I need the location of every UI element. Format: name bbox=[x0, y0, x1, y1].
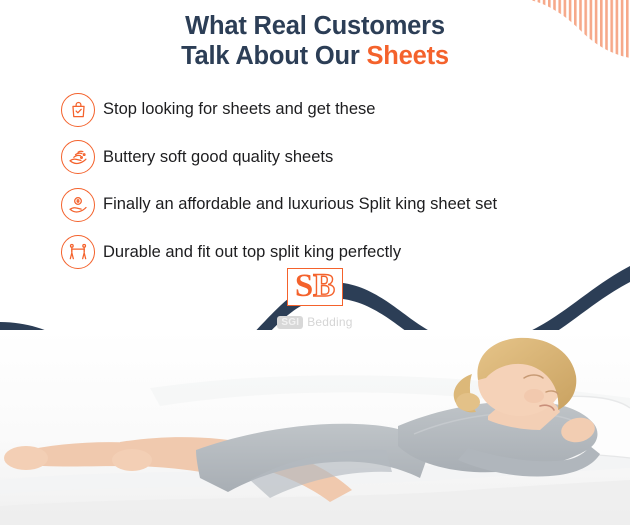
headline-line-2: Talk About Our Sheets bbox=[0, 42, 630, 72]
bedroom-photo bbox=[0, 330, 630, 525]
hand-soft-fabric-icon bbox=[61, 140, 95, 174]
shopping-bag-check-icon bbox=[61, 93, 95, 127]
logo-monogram: SB bbox=[287, 268, 343, 306]
logo-monogram-b: B bbox=[313, 268, 335, 304]
logo-wordmark-badge: SGI bbox=[277, 316, 303, 329]
promo-card: What Real Customers Talk About Our Sheet… bbox=[0, 0, 630, 525]
benefit-row: Stop looking for sheets and get these bbox=[61, 86, 621, 134]
brand-logo: SB SGI Bedding bbox=[0, 268, 630, 329]
benefits-list: Stop looking for sheets and get these Bu… bbox=[61, 86, 621, 276]
headline-line-2-prefix: Talk About Our bbox=[181, 42, 366, 70]
benefit-text: Finally an affordable and luxurious Spli… bbox=[103, 195, 497, 214]
benefit-text: Durable and fit out top split king perfe… bbox=[103, 243, 401, 262]
headline-block: What Real Customers Talk About Our Sheet… bbox=[0, 12, 630, 71]
logo-wordmark-text: Bedding bbox=[307, 315, 352, 329]
benefit-row: Finally an affordable and luxurious Spli… bbox=[61, 181, 621, 229]
hand-coin-icon bbox=[61, 188, 95, 222]
logo-monogram-s: S bbox=[295, 268, 313, 304]
headline-accent-word: Sheets bbox=[366, 42, 448, 70]
benefit-text: Stop looking for sheets and get these bbox=[103, 100, 375, 119]
benefit-text: Buttery soft good quality sheets bbox=[103, 148, 333, 167]
headline-line-1: What Real Customers bbox=[0, 12, 630, 42]
logo-wordmark: SGI Bedding bbox=[0, 315, 630, 329]
two-people-sheet-icon bbox=[61, 235, 95, 269]
benefit-row: Buttery soft good quality sheets bbox=[61, 134, 621, 182]
